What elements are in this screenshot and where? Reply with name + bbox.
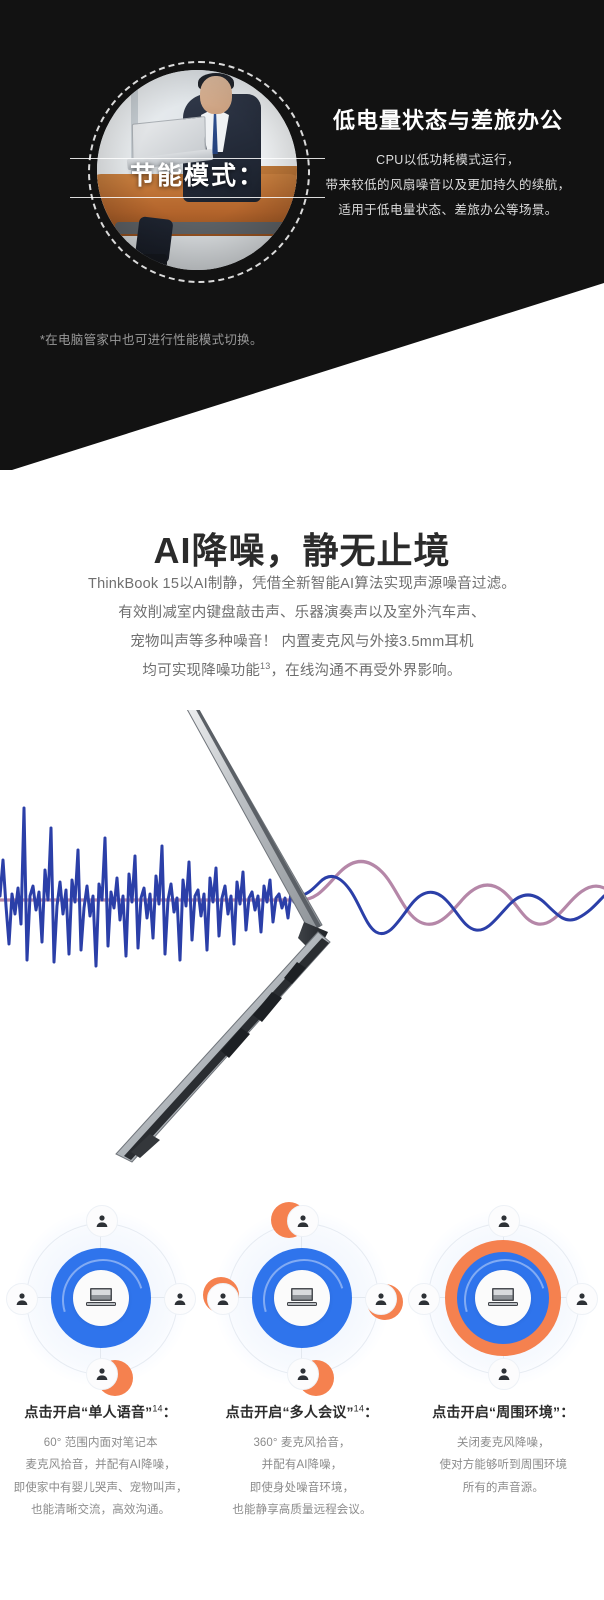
avatar-bottom <box>287 1358 319 1390</box>
desc-line: 所有的声音源。 <box>411 1477 596 1499</box>
microphone-modes-section: 点击开启“单人语音”14： 60° 范围内面对笔记本 麦克风拾音，并配有AI降噪… <box>0 1205 604 1600</box>
power-saving-footnote: *在电脑管家中也可进行性能模式切换。 <box>40 329 263 348</box>
caption-suffix: ： <box>560 1404 574 1420</box>
mode-description-multi-conference: 360° 麦克风拾音， 并配有AI降噪， 即使身处噪音环境， 也能静享高质量远程… <box>201 1432 402 1522</box>
ai-body-line-4: 均可实现降噪功能13，在线沟通不再受外界影响。 <box>0 657 604 686</box>
single-voice-diagram[interactable] <box>6 1205 196 1390</box>
mode-column-single-voice: 点击开启“单人语音”14： 60° 范围内面对笔记本 麦克风拾音，并配有AI降噪… <box>0 1205 201 1522</box>
person-icon <box>95 1367 109 1381</box>
ai-body-line-1: ThinkBook 15以AI制静，凭借全新智能AI算法实现声源噪音过滤。 <box>0 570 604 599</box>
person-icon <box>216 1292 230 1306</box>
desc-line: 也能清晰交流，高效沟通。 <box>8 1499 193 1521</box>
desc-line: 60° 范围内面对笔记本 <box>8 1432 193 1454</box>
desc-line: 关闭麦克风降噪， <box>411 1432 596 1454</box>
mode-column-multi-conference: 点击开启“多人会议”14： 360° 麦克风拾音， 并配有AI降噪， 即使身处噪… <box>201 1205 402 1522</box>
ai-section-heading: AI降噪，静无止境 <box>0 522 604 574</box>
footnote-marker-14: 14 <box>152 1403 162 1413</box>
mode-label-text: 节能模式： <box>70 159 325 197</box>
product-detail-page: 节能模式： 低电量状态与差旅办公 CPU以低功耗模式运行， 带来较低的风扇噪音以… <box>0 0 604 1600</box>
person-icon <box>497 1214 511 1228</box>
caption-prefix: 点击开启“多人会议” <box>226 1404 354 1420</box>
waveform-illustration <box>0 710 604 1180</box>
caption-suffix: ： <box>364 1404 378 1420</box>
mode-caption-multi-conference: 点击开启“多人会议”14： <box>201 1402 402 1422</box>
person-icon <box>173 1292 187 1306</box>
avatar-top <box>287 1205 319 1237</box>
avatar-bottom <box>488 1358 520 1390</box>
avatar-left <box>408 1283 440 1315</box>
footnote-marker-13: 13 <box>260 661 270 671</box>
desc-line: 也能静享高质量远程会议。 <box>209 1499 394 1521</box>
ai-noise-cancelling-section: AI降噪，静无止境 ThinkBook 15以AI制静，凭借全新智能AI算法实现… <box>0 470 604 1210</box>
ai-body-line-4-prefix: 均可实现降噪功能 <box>142 663 260 679</box>
power-saving-section: 节能模式： 低电量状态与差旅办公 CPU以低功耗模式运行， 带来较低的风扇噪音以… <box>0 0 604 470</box>
power-saving-line-2: 带来较低的风扇噪音以及更加持久的续航， <box>306 173 590 198</box>
laptop-icon <box>486 1285 520 1311</box>
laptop-icon <box>84 1285 118 1311</box>
person-icon <box>497 1367 511 1381</box>
person-icon <box>374 1292 388 1306</box>
avatar-left <box>6 1283 38 1315</box>
caption-suffix: ： <box>163 1404 177 1420</box>
power-saving-line-1: CPU以低功耗模式运行， <box>306 148 590 173</box>
person-icon <box>575 1292 589 1306</box>
power-saving-title: 低电量状态与差旅办公 <box>306 108 590 134</box>
ai-body-line-4-suffix: ，在线沟通不再受外界影响。 <box>270 663 461 679</box>
ai-body-line-2: 有效削减室内键盘敲击声、乐器演奏声以及室外汽车声、 <box>0 599 604 628</box>
power-saving-line-3: 适用于低电量状态、差旅办公等场景。 <box>306 198 590 223</box>
avatar-top <box>86 1205 118 1237</box>
mode-description-ambient: 关闭麦克风降噪， 使对方能够听到周围环境 所有的声音源。 <box>403 1432 604 1499</box>
footnote-marker-14: 14 <box>354 1403 364 1413</box>
ambient-environment-diagram[interactable] <box>408 1205 598 1390</box>
person-icon <box>296 1367 310 1381</box>
mode-label-rule-bottom <box>70 197 325 198</box>
person-icon <box>15 1292 29 1306</box>
desc-line: 即使身处噪音环境， <box>209 1477 394 1499</box>
ai-section-body: ThinkBook 15以AI制静，凭借全新智能AI算法实现声源噪音过滤。 有效… <box>0 570 604 686</box>
avatar-bottom <box>86 1358 118 1390</box>
person-icon <box>95 1214 109 1228</box>
caption-prefix: 点击开启“单人语音” <box>24 1404 152 1420</box>
avatar-right <box>566 1283 598 1315</box>
ai-body-line-3: 宠物叫声等多种噪音！ 内置麦克风与外接3.5mm耳机 <box>0 628 604 657</box>
power-saving-copy: 低电量状态与差旅办公 CPU以低功耗模式运行， 带来较低的风扇噪音以及更加持久的… <box>306 108 590 223</box>
person-icon <box>296 1214 310 1228</box>
desc-line: 360° 麦克风拾音， <box>209 1432 394 1454</box>
mode-caption-single-voice: 点击开启“单人语音”14： <box>0 1402 201 1422</box>
avatar-left <box>207 1283 239 1315</box>
avatar-right <box>164 1283 196 1315</box>
mode-columns: 点击开启“单人语音”14： 60° 范围内面对笔记本 麦克风拾音，并配有AI降噪… <box>0 1205 604 1522</box>
mode-description-single-voice: 60° 范围内面对笔记本 麦克风拾音，并配有AI降噪， 即使家中有婴儿哭声、宠物… <box>0 1432 201 1522</box>
laptop-profile-graphic <box>0 710 604 1180</box>
mode-caption-ambient: 点击开启“周围环境”： <box>403 1402 604 1422</box>
laptop-icon <box>285 1285 319 1311</box>
mode-label-group: 节能模式： <box>70 158 325 198</box>
diagonal-divider <box>0 0 604 470</box>
mode-column-ambient: 点击开启“周围环境”： 关闭麦克风降噪， 使对方能够听到周围环境 所有的声音源。 <box>403 1205 604 1522</box>
desc-line: 即使家中有婴儿哭声、宠物叫声， <box>8 1477 193 1499</box>
desc-line: 使对方能够听到周围环境 <box>411 1454 596 1476</box>
caption-prefix: 点击开启“周围环境” <box>432 1404 560 1420</box>
desc-line: 麦克风拾音，并配有AI降噪， <box>8 1454 193 1476</box>
person-icon <box>417 1292 431 1306</box>
avatar-right <box>365 1283 397 1315</box>
multi-conference-diagram[interactable] <box>207 1205 397 1390</box>
desc-line: 并配有AI降噪， <box>209 1454 394 1476</box>
